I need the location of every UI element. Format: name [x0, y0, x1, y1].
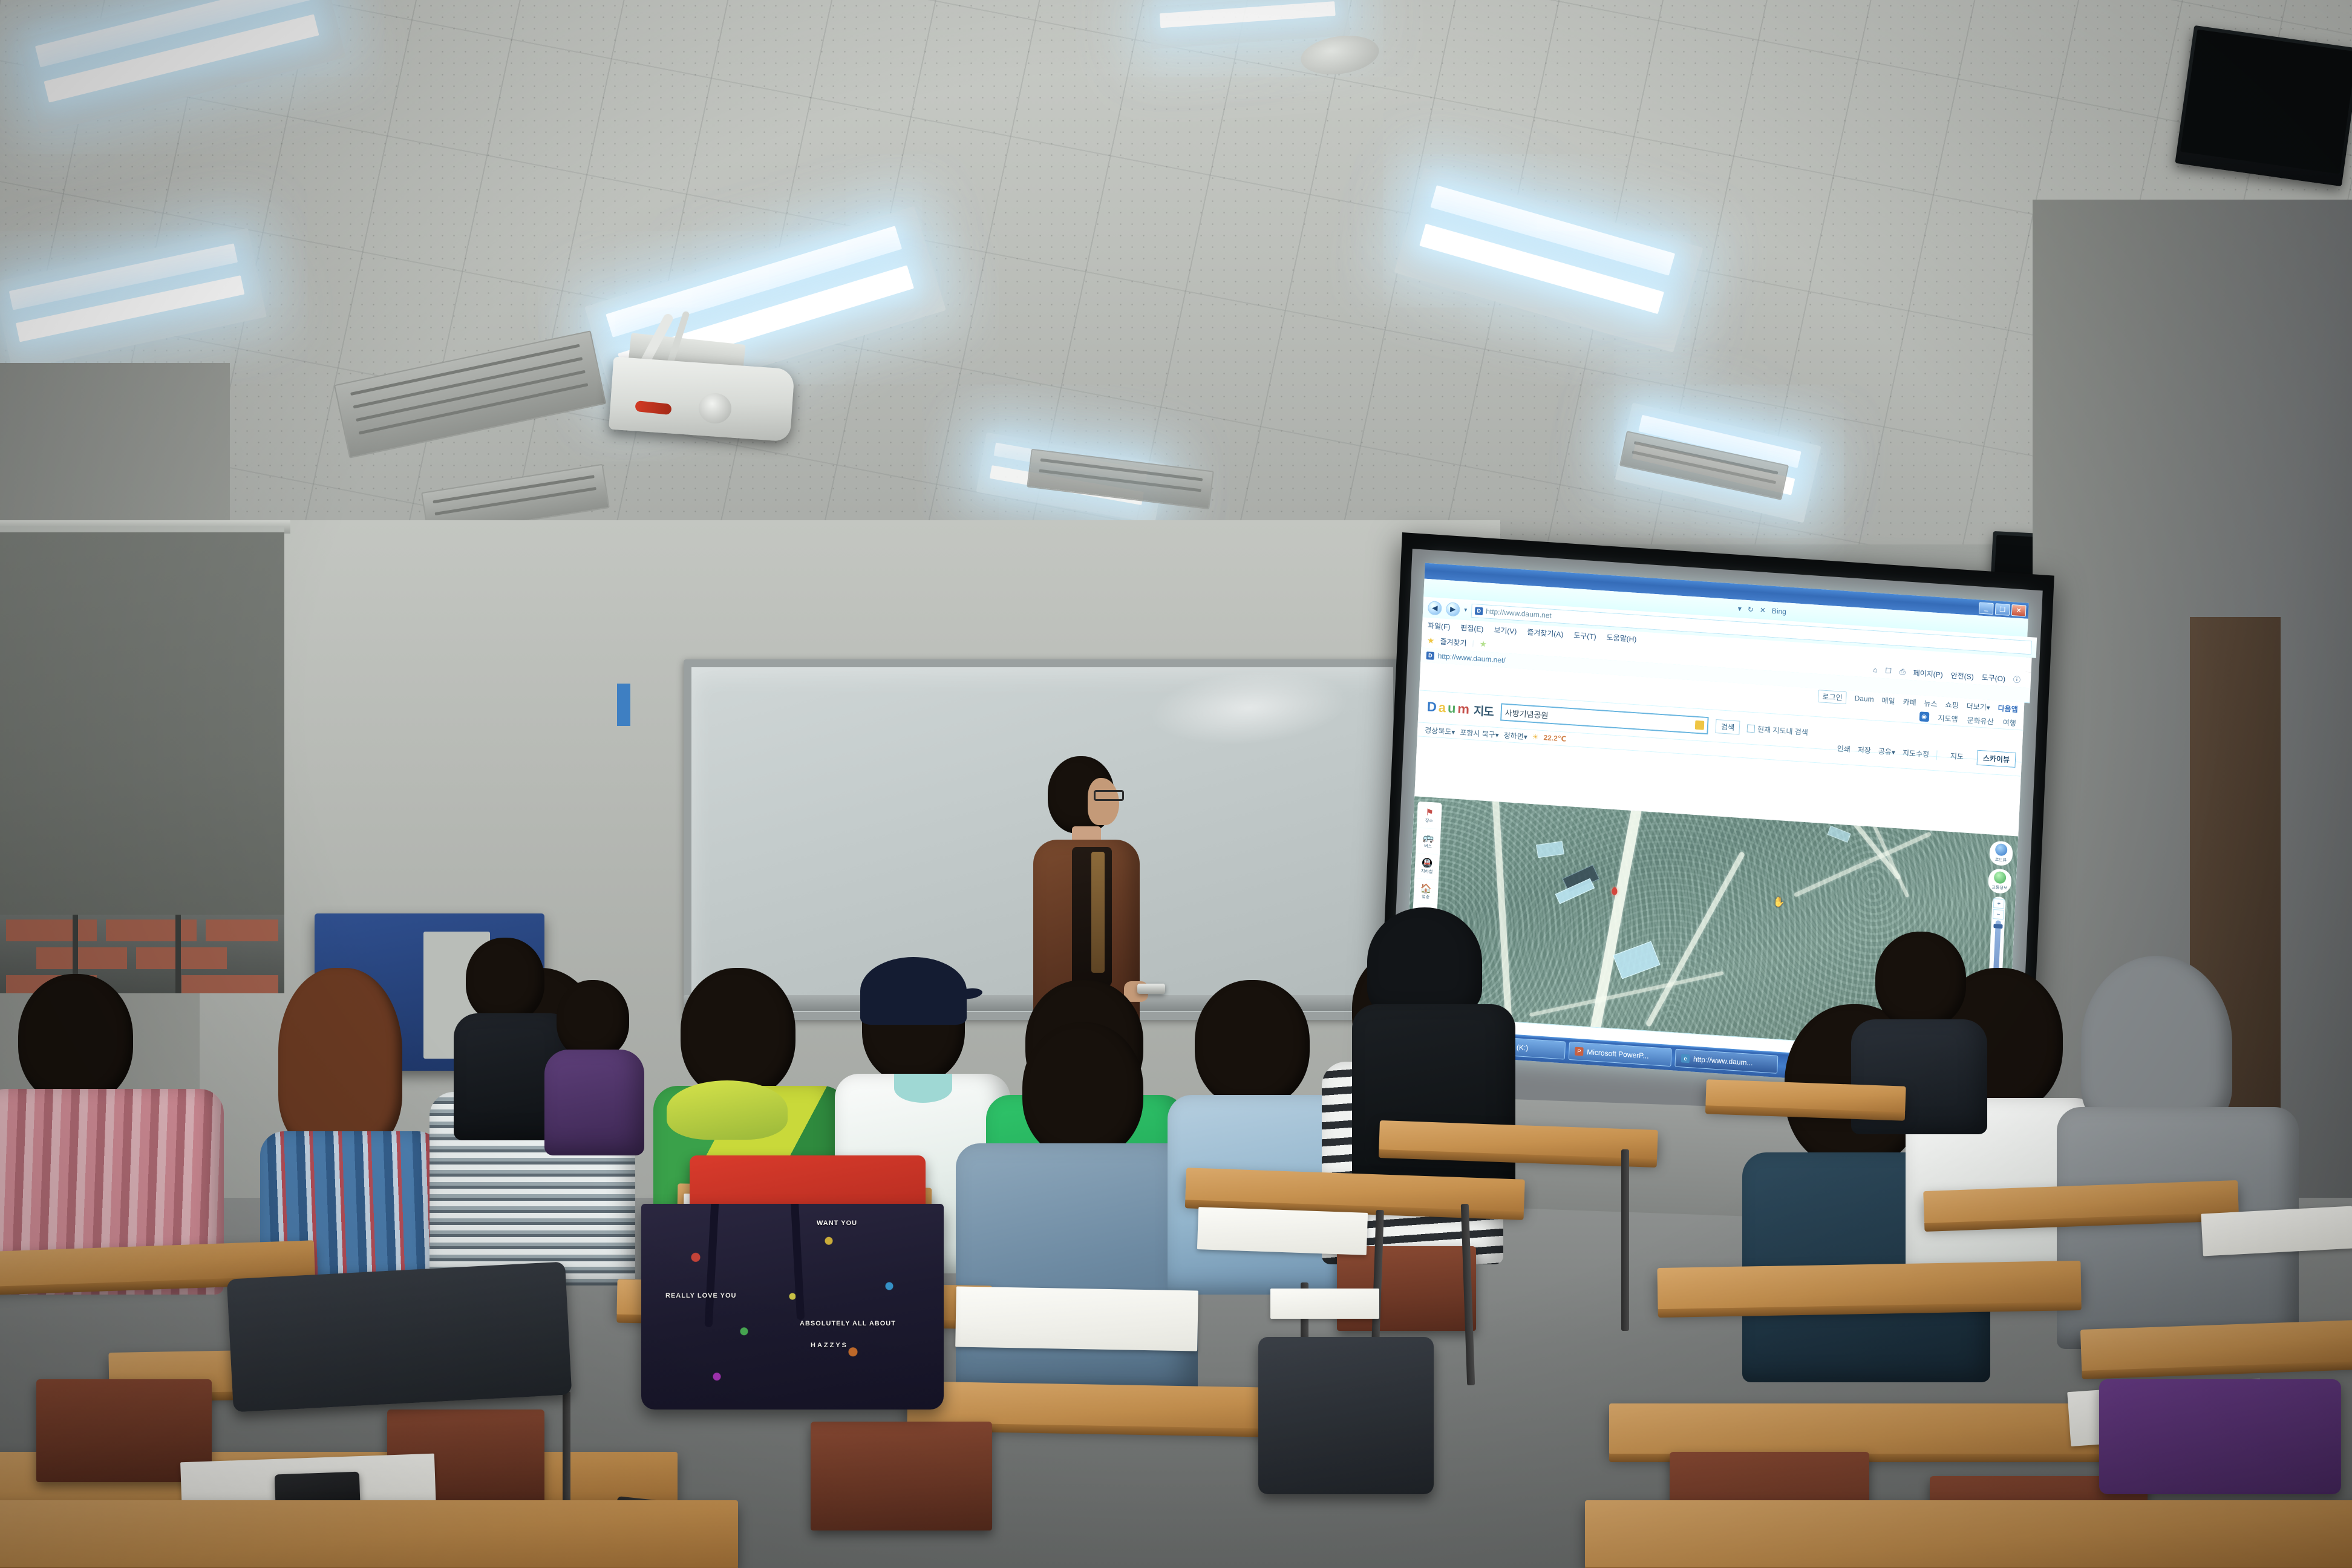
- subnav-map-app[interactable]: 지도앱: [1938, 713, 1958, 724]
- roadview-icon: [1995, 843, 2008, 856]
- home-icon[interactable]: ⌂: [1873, 665, 1878, 674]
- gnb-link-cafe[interactable]: 카페: [1903, 696, 1916, 707]
- desk-leg: [1621, 1149, 1629, 1331]
- tote-text-hazzys: HAZZYS: [811, 1342, 848, 1349]
- command-safety[interactable]: 안전(S): [1950, 670, 1974, 682]
- classroom-scene: _ ❑ ✕ http://www.daum.net/ - Windows Int…: [0, 0, 2352, 1568]
- roadview-control[interactable]: 로드뷰: [1989, 840, 2013, 866]
- view-tab-skyview[interactable]: 스카이뷰: [1976, 750, 2016, 768]
- map-tool-label: 버스: [1424, 843, 1432, 849]
- student-head: [1875, 932, 1966, 1028]
- logo-a: a: [1438, 700, 1445, 716]
- black-backpack[interactable]: [1258, 1337, 1434, 1494]
- student-purple-shirt: [544, 980, 647, 1149]
- ceiling-speaker-right: [2175, 25, 2352, 186]
- wall-notice: [617, 684, 630, 726]
- view-tab-map[interactable]: 지도: [1944, 748, 1970, 765]
- weather-temperature: 22.2℃: [1543, 733, 1566, 743]
- favorites-label[interactable]: 즐겨찾기: [1440, 636, 1467, 648]
- instructor-tie: [1091, 852, 1105, 973]
- ceiling-speckle-texture: [0, 0, 2352, 544]
- menu-item-help[interactable]: 도움말(H): [1606, 632, 1636, 644]
- tote-text-really-love-you: REALLY LOVE YOU: [665, 1292, 737, 1299]
- subnav-heritage[interactable]: 문화유산: [1967, 714, 1994, 727]
- tab-dropdown-icon[interactable]: ▾: [1738, 604, 1742, 613]
- student-head: [557, 980, 629, 1059]
- purple-jacket[interactable]: [2099, 1379, 2341, 1494]
- student-head: [278, 968, 402, 1149]
- roadview-label: 로드뷰: [1995, 857, 2007, 863]
- map-tool-business[interactable]: 🏠 업종: [1415, 880, 1437, 906]
- zoom-in-button[interactable]: +: [1993, 898, 2005, 909]
- tab-favicon: D: [1426, 652, 1435, 660]
- zoom-handle[interactable]: [1993, 924, 2002, 929]
- powerpoint-icon: P: [1575, 1047, 1584, 1056]
- instructor-face: [1088, 778, 1119, 825]
- checkbox-label: 현재 지도내 검색: [1757, 724, 1809, 737]
- subway-icon: 🚇: [1422, 858, 1433, 868]
- history-dropdown-icon[interactable]: ▾: [1464, 607, 1468, 613]
- tool-print[interactable]: 인쇄: [1837, 743, 1851, 754]
- maximize-button[interactable]: ❑: [1995, 603, 2010, 616]
- menu-item-view[interactable]: 보기(V): [1494, 624, 1517, 636]
- menu-item-file[interactable]: 파일(F): [1428, 620, 1451, 632]
- help-icon[interactable]: ⓘ: [2013, 674, 2021, 685]
- zoom-out-button[interactable]: −: [1993, 909, 2004, 920]
- tab-label: http://www.daum.net/: [1437, 652, 1505, 664]
- back-button[interactable]: ◀: [1428, 601, 1442, 616]
- breadcrumb-city[interactable]: 포항시 북구▾: [1460, 727, 1499, 739]
- student-head: [466, 938, 544, 1022]
- tote-bag[interactable]: WANT YOU REALLY LOVE YOU ABSOLUTELY ALL …: [641, 1204, 944, 1410]
- map-tool-subway[interactable]: 🚇 지하철: [1416, 854, 1438, 880]
- student-pink-plaid: [0, 974, 242, 1289]
- flag-icon: ⚑: [1425, 808, 1434, 817]
- search-value: 사방기념공원: [1504, 706, 1548, 720]
- black-backpack[interactable]: [227, 1261, 572, 1412]
- checkbox-box[interactable]: [1747, 724, 1756, 733]
- subnav-travel[interactable]: 여행: [2002, 717, 2016, 728]
- breadcrumb-province[interactable]: 경상북도▾: [1425, 725, 1455, 737]
- command-tools[interactable]: 도구(O): [1981, 671, 2005, 684]
- daum-map-logo[interactable]: Daum 지도: [1426, 699, 1494, 719]
- login-button[interactable]: 로그인: [1818, 690, 1847, 704]
- tool-share[interactable]: 공유▾: [1878, 746, 1895, 757]
- menu-item-tools[interactable]: 도구(T): [1573, 630, 1596, 641]
- desk: [0, 1500, 738, 1568]
- address-value: http://www.daum.net: [1486, 607, 1552, 619]
- daum-app-badge[interactable]: 다음앱: [1998, 702, 2018, 714]
- breadcrumb-town[interactable]: 청하면▾: [1503, 730, 1527, 742]
- gnb-link-more[interactable]: 더보기▾: [1966, 701, 1990, 713]
- student-head: [1022, 1022, 1143, 1158]
- search-keyboard-icon[interactable]: [1695, 720, 1705, 730]
- search-provider-label: Bing: [1772, 607, 1787, 616]
- map-tool-place[interactable]: ⚑ 장소: [1419, 803, 1440, 829]
- gnb-link-daum[interactable]: Daum: [1854, 694, 1874, 704]
- map-hand-cursor: ✋: [1772, 896, 1785, 909]
- weather-icon: ☀: [1532, 733, 1538, 742]
- traffic-control[interactable]: 교통정보: [1988, 868, 2012, 893]
- student-grey-hoodie: [2057, 956, 2299, 1343]
- logo-d: D: [1426, 699, 1436, 715]
- roller-blind[interactable]: [0, 526, 284, 932]
- papers-on-desk: [1197, 1207, 1368, 1255]
- gnb-link-mail[interactable]: 메일: [1881, 695, 1895, 706]
- traffic-label: 교통정보: [1991, 884, 2007, 892]
- map-tool-label: 장소: [1425, 817, 1433, 824]
- close-button[interactable]: ✕: [2011, 604, 2027, 617]
- add-favorite-icon[interactable]: ★: [1479, 638, 1487, 649]
- cap-brim: [956, 987, 983, 1000]
- taskbar-button-powerpoint[interactable]: P Microsoft PowerP...: [1569, 1042, 1672, 1067]
- chair[interactable]: [811, 1422, 992, 1530]
- site-favicon: D: [1475, 607, 1483, 615]
- search-in-map-checkbox[interactable]: 현재 지도내 검색: [1747, 723, 1809, 737]
- map-app-icon[interactable]: ◉: [1919, 711, 1929, 722]
- map-tool-label: 지하철: [1421, 868, 1433, 875]
- traffic-icon: [1994, 871, 2007, 884]
- student-head: [18, 974, 133, 1104]
- feeds-icon[interactable]: ☐: [1885, 666, 1892, 675]
- jacket-hood: [667, 1080, 788, 1140]
- refresh-icon[interactable]: ↻: [1748, 605, 1754, 614]
- search-button[interactable]: 검색: [1716, 719, 1740, 734]
- minimize-button[interactable]: _: [1979, 602, 1994, 615]
- glasses-icon: [1094, 790, 1124, 801]
- student-head: [1195, 980, 1310, 1107]
- student-torso: [1352, 1004, 1515, 1192]
- desk: [1585, 1500, 2352, 1568]
- desk: [1657, 1261, 2081, 1310]
- student-torso: [544, 1050, 644, 1155]
- tool-edit-map[interactable]: 지도수정: [1903, 748, 1930, 760]
- command-page[interactable]: 페이지(P): [1913, 667, 1943, 679]
- forward-button[interactable]: ▶: [1446, 602, 1460, 617]
- taskbar-button-label: Microsoft PowerP...: [1587, 1048, 1649, 1060]
- map-tool-label: 업종: [1422, 893, 1429, 900]
- tool-save[interactable]: 저장: [1857, 745, 1871, 756]
- logo-u: u: [1447, 701, 1455, 717]
- gnb-link-shopping[interactable]: 쇼핑: [1945, 699, 1959, 710]
- tote-text-absolutely: ABSOLUTELY ALL ABOUT: [800, 1320, 896, 1327]
- ie-icon: e: [1681, 1054, 1690, 1063]
- hoodie-hood: [1367, 907, 1482, 1016]
- desk: [2080, 1320, 2352, 1372]
- menu-item-edit[interactable]: 편집(E): [1460, 622, 1484, 634]
- ceiling: [0, 0, 2352, 544]
- gnb-link-news[interactable]: 뉴스: [1924, 697, 1938, 708]
- print-icon[interactable]: ⎙: [1900, 667, 1906, 676]
- store-icon: 🏠: [1420, 884, 1432, 893]
- map-tool-bus[interactable]: 🚌 버스: [1417, 829, 1439, 855]
- papers-on-desk: [955, 1287, 1198, 1351]
- tote-text-want-you: WANT YOU: [817, 1220, 857, 1227]
- bus-icon: 🚌: [1422, 833, 1434, 843]
- papers-on-desk: [1270, 1289, 1379, 1319]
- student-head: [681, 968, 795, 1098]
- stop-icon[interactable]: ✕: [1760, 606, 1766, 615]
- logo-service-label: 지도: [1473, 702, 1494, 719]
- logo-m: m: [1457, 701, 1469, 717]
- menu-item-favorites[interactable]: 즐겨찾기(A): [1527, 627, 1564, 639]
- tool-separator: [1936, 750, 1938, 760]
- map-marker-pin[interactable]: [1612, 887, 1618, 895]
- baseball-cap: [860, 957, 967, 1025]
- star-icon[interactable]: ★: [1427, 635, 1435, 646]
- papers-on-desk: [2201, 1206, 2352, 1256]
- hoodie-hood: [2081, 956, 2232, 1131]
